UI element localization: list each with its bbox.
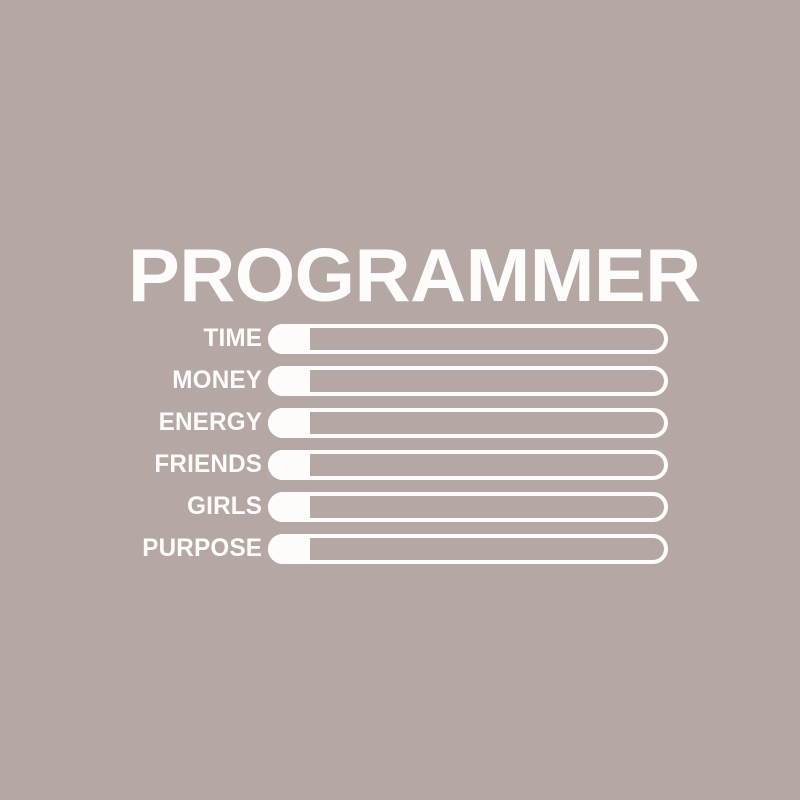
stat-track-energy <box>268 408 668 438</box>
stat-track-money <box>268 366 668 396</box>
stat-fill-time <box>268 324 310 354</box>
poster-canvas: PROGRAMMER TIME MONEY ENERGY <box>0 0 800 800</box>
stat-fill-purpose <box>268 534 310 564</box>
stat-row-friends: FRIENDS <box>128 444 673 486</box>
stat-fill-friends <box>268 450 310 480</box>
stat-fill-energy <box>268 408 310 438</box>
stat-row-girls: GIRLS <box>128 486 673 528</box>
stat-label-purpose: PURPOSE <box>132 536 268 561</box>
stat-fill-money <box>268 366 310 396</box>
stat-track-girls <box>268 492 668 522</box>
stat-row-time: TIME <box>128 318 673 360</box>
stat-track-friends <box>268 450 668 480</box>
stat-label-energy: ENERGY <box>132 410 268 435</box>
stat-row-purpose: PURPOSE <box>128 528 673 570</box>
stat-bar-list: TIME MONEY ENERGY FRIENDS <box>128 318 673 570</box>
stat-track-purpose <box>268 534 668 564</box>
stat-label-time: TIME <box>132 326 268 351</box>
stat-row-money: MONEY <box>128 360 673 402</box>
artwork-group: PROGRAMMER TIME MONEY ENERGY <box>128 243 673 570</box>
page-title: PROGRAMMER <box>128 243 692 308</box>
stat-label-money: MONEY <box>132 368 268 393</box>
stat-row-energy: ENERGY <box>128 402 673 444</box>
stat-label-girls: GIRLS <box>132 494 268 519</box>
stat-label-friends: FRIENDS <box>132 452 268 477</box>
stat-fill-girls <box>268 492 310 522</box>
stat-track-time <box>268 324 668 354</box>
